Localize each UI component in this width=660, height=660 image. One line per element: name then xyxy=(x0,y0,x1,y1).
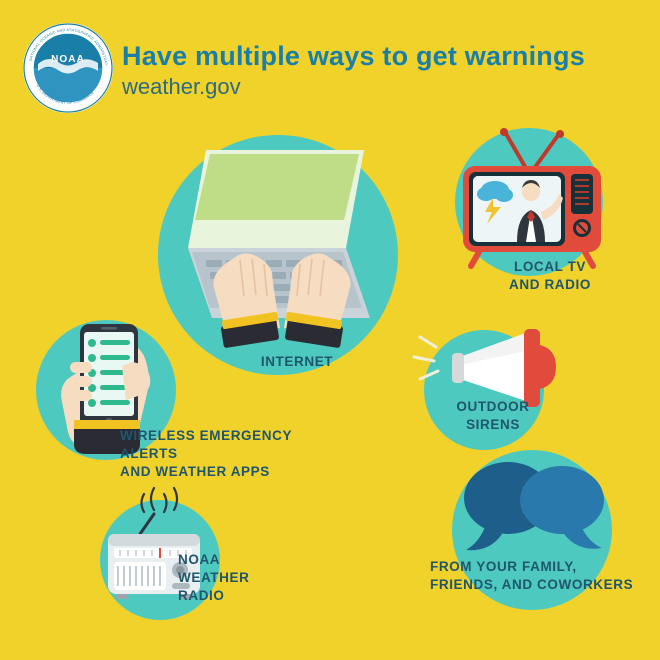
radio-label: NOAA WEATHER RADIO xyxy=(178,551,288,605)
tv-label-line2: AND RADIO xyxy=(480,276,620,294)
wea-label-line1: WIRELESS EMERGENCY ALERTS xyxy=(120,427,350,463)
radio-label-line2: WEATHER xyxy=(178,569,288,587)
people-label-line2: FRIENDS, AND COWORKERS xyxy=(430,576,640,594)
page-title: Have multiple ways to get warnings xyxy=(122,40,642,72)
noaa-seal-logo: NOAA NATIONAL OCEANIC AND ATMOSPHERIC AD… xyxy=(22,22,114,114)
sirens-label-line1: OUTDOOR xyxy=(438,398,548,416)
wea-label-line2: AND WEATHER APPS xyxy=(120,463,350,481)
television-icon xyxy=(455,128,615,268)
page-subtitle: weather.gov xyxy=(122,74,642,100)
svg-text:NOAA: NOAA xyxy=(51,54,85,65)
radio-label-line1: NOAA xyxy=(178,551,288,569)
infographic-canvas: NOAA NATIONAL OCEANIC AND ATMOSPHERIC AD… xyxy=(0,0,660,660)
tv-label: LOCAL TV AND RADIO xyxy=(480,258,620,294)
radio-label-line3: RADIO xyxy=(178,587,288,605)
tv-label-line1: LOCAL TV xyxy=(480,258,620,276)
people-label: FROM YOUR FAMILY, FRIENDS, AND COWORKERS xyxy=(430,558,640,594)
people-label-line1: FROM YOUR FAMILY, xyxy=(430,558,640,576)
speech-bubbles-icon xyxy=(452,450,617,570)
sirens-label-line2: SIRENS xyxy=(438,416,548,434)
wea-label: WIRELESS EMERGENCY ALERTS AND WEATHER AP… xyxy=(120,427,350,481)
sirens-label: OUTDOOR SIRENS xyxy=(438,398,548,434)
internet-label: INTERNET xyxy=(232,353,362,371)
laptop-icon xyxy=(186,140,378,340)
header-text-block: Have multiple ways to get warnings weath… xyxy=(122,40,642,100)
